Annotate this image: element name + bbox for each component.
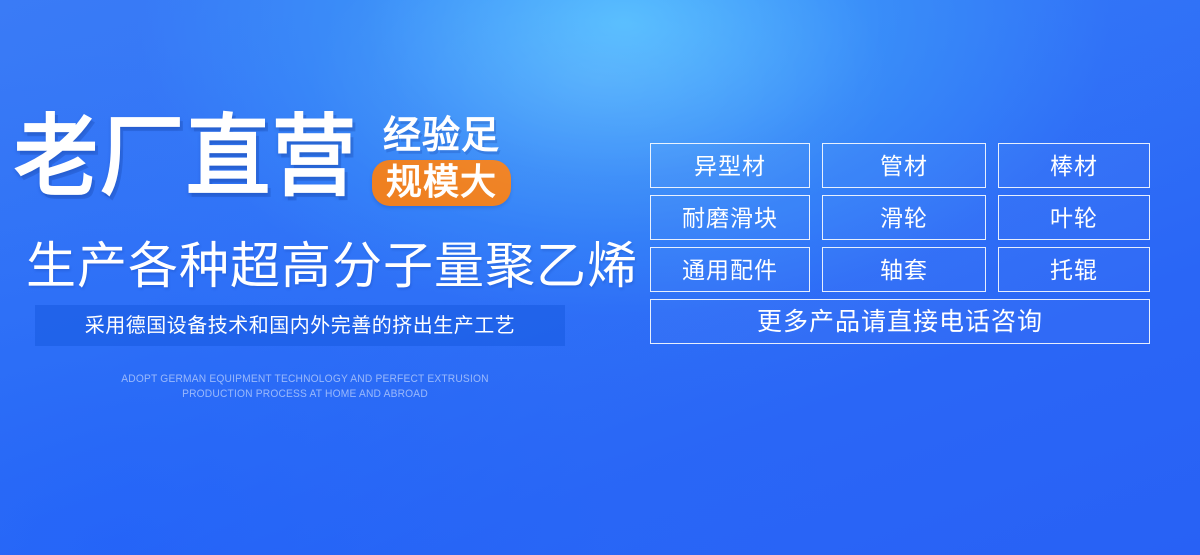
promo-banner: 老厂直营 经验足 规模大 生产各种超高分子量聚乙烯 采用德国设备技术和国内外完善…: [0, 0, 1200, 555]
product-cell-zhoutao[interactable]: 轴套: [822, 247, 986, 292]
contact-cta-button[interactable]: 更多产品请直接电话咨询: [650, 299, 1150, 344]
subheadline: 生产各种超高分子量聚乙烯: [26, 238, 638, 294]
headline-row: 老厂直营 经验足 规模大: [14, 112, 511, 206]
badge-stack: 经验足 规模大: [372, 116, 511, 206]
product-cell-yelun[interactable]: 叶轮: [998, 195, 1150, 240]
english-caption-line1: ADOPT GERMAN EQUIPMENT TECHNOLOGY AND PE…: [54, 372, 556, 387]
product-cell-tuogun[interactable]: 托辊: [998, 247, 1150, 292]
product-row: 异型材 管材 棒材: [650, 143, 1150, 188]
page-title: 老厂直营: [14, 112, 358, 201]
english-caption-line2: PRODUCTION PROCESS AT HOME AND ABROAD: [54, 387, 556, 402]
product-cell-naimohuakuai[interactable]: 耐磨滑块: [650, 195, 810, 240]
tagline-strip: 采用德国设备技术和国内外完善的挤出生产工艺: [35, 305, 565, 346]
badge-scale: 规模大: [372, 160, 511, 206]
product-cell-bangcai[interactable]: 棒材: [998, 143, 1150, 188]
product-cell-guancai[interactable]: 管材: [822, 143, 986, 188]
badge-experience: 经验足: [383, 116, 500, 156]
product-row: 通用配件 轴套 托辊: [650, 247, 1150, 292]
product-cell-hualun[interactable]: 滑轮: [822, 195, 986, 240]
hero-text-block: 老厂直营 经验足 规模大 生产各种超高分子量聚乙烯 采用德国设备技术和国内外完善…: [0, 0, 610, 555]
english-caption: ADOPT GERMAN EQUIPMENT TECHNOLOGY AND PE…: [54, 372, 556, 402]
product-grid: 异型材 管材 棒材 耐磨滑块 滑轮 叶轮 通用配件 轴套 托辊 更多产品请直接电…: [650, 143, 1150, 344]
product-row: 耐磨滑块 滑轮 叶轮: [650, 195, 1150, 240]
product-cell-yixingcai[interactable]: 异型材: [650, 143, 810, 188]
tagline-text: 采用德国设备技术和国内外完善的挤出生产工艺: [85, 315, 516, 337]
product-cell-tongyongpeijian[interactable]: 通用配件: [650, 247, 810, 292]
